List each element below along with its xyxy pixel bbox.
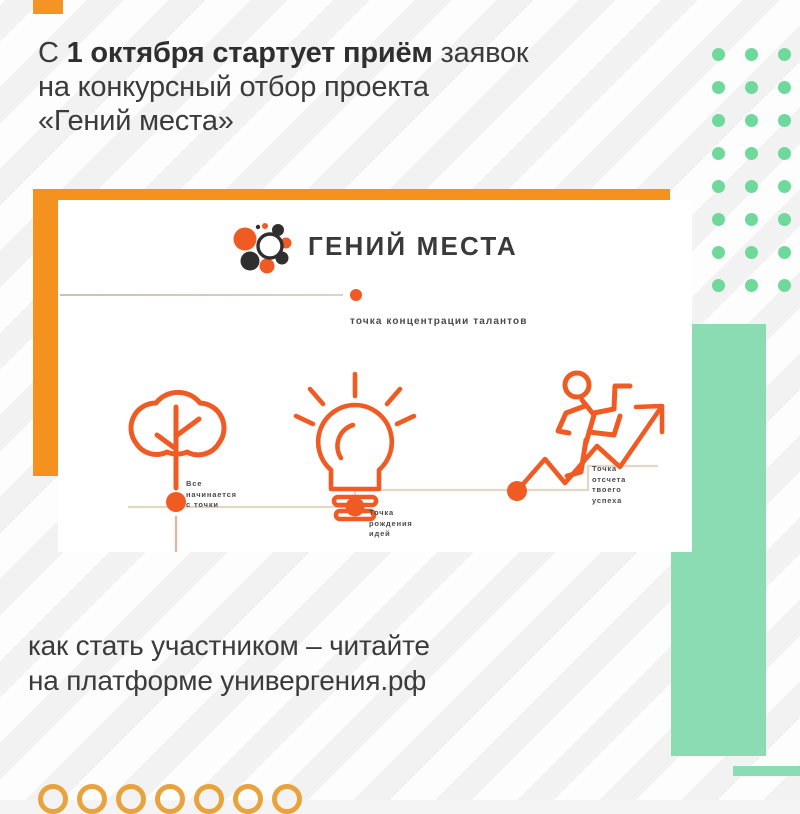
orange-ring (194, 784, 224, 814)
lightbulb-point-dot (346, 498, 365, 517)
label-talent-concentration: точка концентрации талантов (350, 315, 560, 329)
orange-ring (155, 784, 185, 814)
green-dot (745, 246, 758, 259)
green-dot (778, 114, 791, 127)
logo-wordmark: ГЕНИЙ МЕСТА (308, 231, 518, 262)
talents-point-dot (350, 289, 362, 301)
green-dot (745, 279, 758, 292)
subline-line-1: как стать участником – читайте (28, 630, 430, 661)
lightbulb-icon (296, 374, 414, 519)
subline-line-2: на платформе универгения.рф (28, 665, 426, 696)
green-dot (778, 180, 791, 193)
label-bulb-line-2: рождения (369, 519, 413, 528)
orange-ring (116, 784, 146, 814)
tree-icon (131, 392, 224, 488)
label-runner-line-2: отсчета (592, 475, 626, 484)
green-dot (745, 147, 758, 160)
orange-ring (272, 784, 302, 814)
green-dot (745, 114, 758, 127)
label-tree-caption: Все начинается с точки (186, 479, 256, 511)
tree-point-dot (166, 492, 186, 512)
green-dot (712, 213, 725, 226)
green-dot (778, 246, 791, 259)
label-runner-line-4: успеха (592, 496, 622, 505)
green-dot (712, 147, 725, 160)
label-tree-line-3: с точки (186, 500, 219, 509)
green-dot (712, 81, 725, 94)
headline-bold: 1 октября стартует приём (67, 37, 433, 69)
top-orange-accent-bar (33, 0, 63, 14)
label-bulb-line-3: идей (369, 529, 391, 538)
call-to-action-text: как стать участником – читайте на платфо… (28, 628, 668, 698)
orange-ring (38, 784, 68, 814)
label-runner-line-1: Точка (592, 464, 617, 473)
headline-prefix: С (38, 37, 67, 69)
green-dot (745, 213, 758, 226)
genius-place-dots-logo-icon (232, 222, 294, 274)
green-dot (778, 279, 791, 292)
green-dot (745, 180, 758, 193)
top-connector-rule (60, 294, 343, 296)
green-dot (778, 48, 791, 61)
green-dot (778, 81, 791, 94)
headline-line-3: «Гений места» (38, 105, 234, 137)
orange-ring (77, 784, 107, 814)
headline-suffix: заявок (433, 37, 529, 69)
label-runner-line-3: твоего (592, 485, 622, 494)
genius-place-logo: ГЕНИЙ МЕСТА (232, 222, 492, 274)
page-title: С 1 октября стартует приём заявок на кон… (38, 36, 648, 138)
green-dot (712, 48, 725, 61)
green-dot (745, 48, 758, 61)
running-person-icon (558, 373, 630, 476)
label-runner-caption: Точка отсчета твоего успеха (592, 464, 658, 506)
label-tree-line-2: начинается (186, 490, 237, 499)
headline-line-1: С 1 октября стартует приём заявок (38, 37, 528, 69)
label-tree-line-1: Все (186, 479, 202, 488)
label-lightbulb-caption: Точка рождения идей (369, 508, 439, 540)
green-dot (712, 180, 725, 193)
green-dot (712, 114, 725, 127)
green-dot (745, 81, 758, 94)
label-bulb-line-1: Точка (369, 508, 394, 517)
green-dot (712, 279, 725, 292)
green-dot (778, 213, 791, 226)
green-dot (778, 147, 791, 160)
green-dot (712, 246, 725, 259)
runner-point-dot (507, 481, 527, 501)
headline-line-2: на конкурсный отбор проекта (38, 71, 429, 103)
green-bottom-chip (733, 766, 800, 776)
orange-ring (233, 784, 263, 814)
